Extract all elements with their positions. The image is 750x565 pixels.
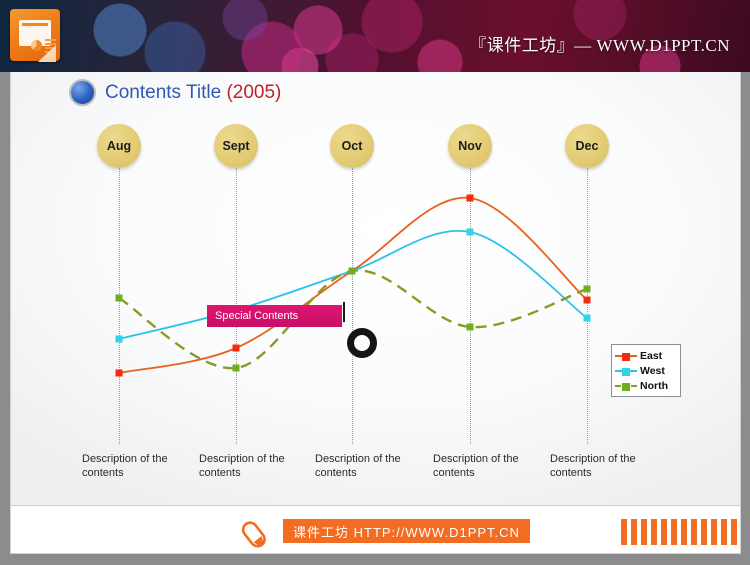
description-5: Description of the contents xyxy=(550,452,660,480)
footer-stripe xyxy=(691,519,697,545)
footer-stripe xyxy=(661,519,667,545)
description-3: Description of the contents xyxy=(315,452,425,480)
footer-stripe xyxy=(631,519,637,545)
pencil-icon xyxy=(239,516,275,548)
footer-site-tag: 课件工坊 HTTP://WWW.D1PPT.CN xyxy=(283,519,530,543)
footer-stripe xyxy=(641,519,647,545)
pie-glyph xyxy=(31,40,42,51)
footer-stripes xyxy=(621,519,737,545)
window-bottom-edge xyxy=(0,554,750,565)
banner-site-text: 『课件工坊』— WWW.D1PPT.CN xyxy=(469,31,730,56)
top-banner: 『课件工坊』— WWW.D1PPT.CN xyxy=(0,0,750,72)
descriptions-row: Description of the contentsDescription o… xyxy=(11,72,741,506)
footer-stripe xyxy=(701,519,707,545)
footer-bar: 课件工坊 HTTP://WWW.D1PPT.CN xyxy=(10,506,741,554)
slide-canvas: Contents Title (2005) AugSeptOctNovDec S… xyxy=(10,72,741,506)
description-1: Description of the contents xyxy=(82,452,192,480)
slide-viewer: 『课件工坊』— WWW.D1PPT.CN Contents Title (200… xyxy=(0,0,750,565)
footer-stripe xyxy=(711,519,717,545)
footer-stripe xyxy=(671,519,677,545)
footer-stripe xyxy=(681,519,687,545)
description-2: Description of the contents xyxy=(199,452,309,480)
description-4: Description of the contents xyxy=(433,452,543,480)
footer-stripe xyxy=(621,519,627,545)
footer-stripe xyxy=(721,519,727,545)
footer-stripe xyxy=(651,519,657,545)
footer-stripe xyxy=(731,519,737,545)
presentation-document-icon xyxy=(10,9,64,64)
